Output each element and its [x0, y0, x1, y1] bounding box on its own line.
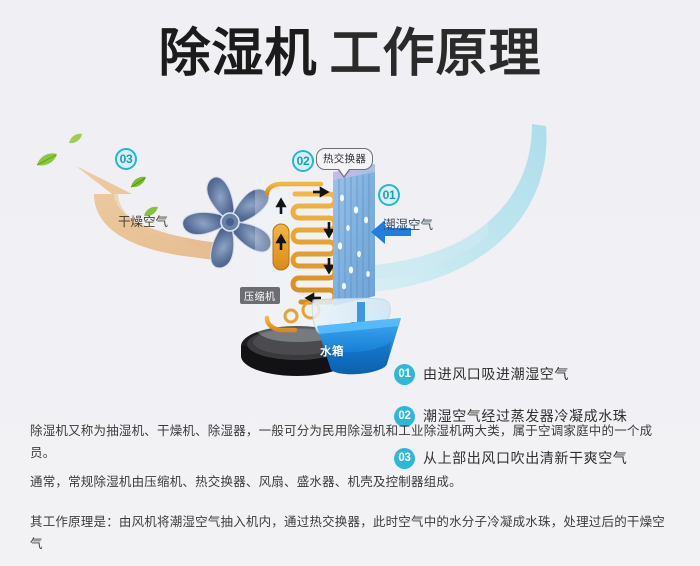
- diagram-label-humid-air: 潮湿空气: [383, 214, 433, 233]
- paragraph-2-line-2: 排出机外，如此循环使室内湿度保持在适宜的相对湿度。: [30, 562, 675, 566]
- title-part-secondary: 工作原理: [330, 28, 542, 80]
- infographic-page: 除湿机工作原理: [0, 0, 700, 566]
- description-text: 除湿机又称为抽湿机、干燥机、除湿器，一般可分为民用除湿机和工业除湿机两大类，属于…: [30, 420, 675, 566]
- dehumidifier-illustration: 03 干燥空气 02 热交换器 01 潮湿空气 压缩机 水箱 01 由进风口吸进…: [0, 110, 700, 400]
- leaf-icon: [130, 176, 147, 189]
- title-part-primary: 除湿机: [158, 28, 317, 80]
- diagram-label-water-tank: 水箱: [320, 343, 344, 359]
- legend-item: 01 由进风口吸进潮湿空气: [394, 362, 684, 386]
- legend-badge-01: 01: [394, 364, 415, 385]
- paragraph-spacer: [30, 500, 675, 511]
- diagram-badge-02: 02: [292, 150, 314, 172]
- diagram-badge-03: 03: [115, 148, 137, 170]
- legend-text-01: 由进风口吸进潮湿空气: [423, 364, 569, 384]
- diagram-badge-01: 01: [378, 184, 400, 206]
- heat-exchanger-callout: 热交换器: [316, 148, 373, 170]
- diagram-label-dry-air: 干燥空气: [118, 211, 168, 230]
- paragraph-1-line-2: 通常，常规除湿机由压缩机、热交换器、风扇、盛水器、机壳及控制器组成。: [30, 471, 675, 493]
- paragraph-1-line-1: 除湿机又称为抽湿机、干燥机、除湿器，一般可分为民用除湿机和工业除湿机两大类，属于…: [30, 420, 675, 464]
- paragraph-2-line-1: 其工作原理是：由风机将潮湿空气抽入机内，通过热交换器，此时空气中的水分子冷凝成水…: [30, 511, 675, 555]
- diagram-label-compressor: 压缩机: [240, 287, 280, 304]
- leaf-icon: [68, 133, 83, 145]
- leaf-icon: [36, 152, 58, 168]
- page-title: 除湿机工作原理: [0, 28, 700, 80]
